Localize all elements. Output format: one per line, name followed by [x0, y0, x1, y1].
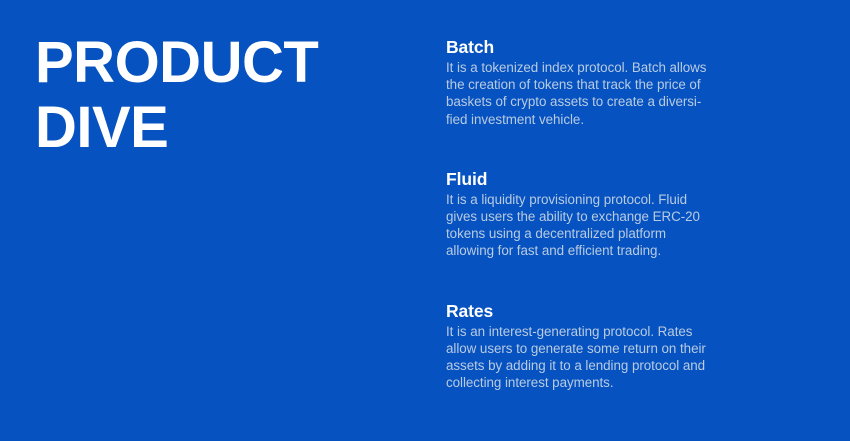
- product-description-fluid: It is a liquidity provisioning protocol.…: [446, 191, 766, 260]
- product-name-rates: Rates: [446, 300, 766, 322]
- product-name-fluid: Fluid: [446, 168, 766, 190]
- product-dive-slide: PRODUCT DIVE Batch It is a tokenized ind…: [0, 0, 850, 441]
- page-title-line-1: PRODUCT: [35, 30, 415, 95]
- product-list: Batch It is a tokenized index protocol. …: [446, 36, 766, 391]
- product-name-batch: Batch: [446, 36, 766, 58]
- page-title: PRODUCT DIVE: [35, 30, 415, 160]
- product-description-batch: It is a tokenized index protocol. Batch …: [446, 59, 766, 128]
- product-description-rates: It is an interest-generating protocol. R…: [446, 323, 766, 392]
- product-item-batch: Batch It is a tokenized index protocol. …: [446, 36, 766, 128]
- page-title-line-2: DIVE: [35, 95, 415, 160]
- product-item-fluid: Fluid It is a liquidity provisioning pro…: [446, 168, 766, 260]
- product-item-rates: Rates It is an interest-generating proto…: [446, 300, 766, 392]
